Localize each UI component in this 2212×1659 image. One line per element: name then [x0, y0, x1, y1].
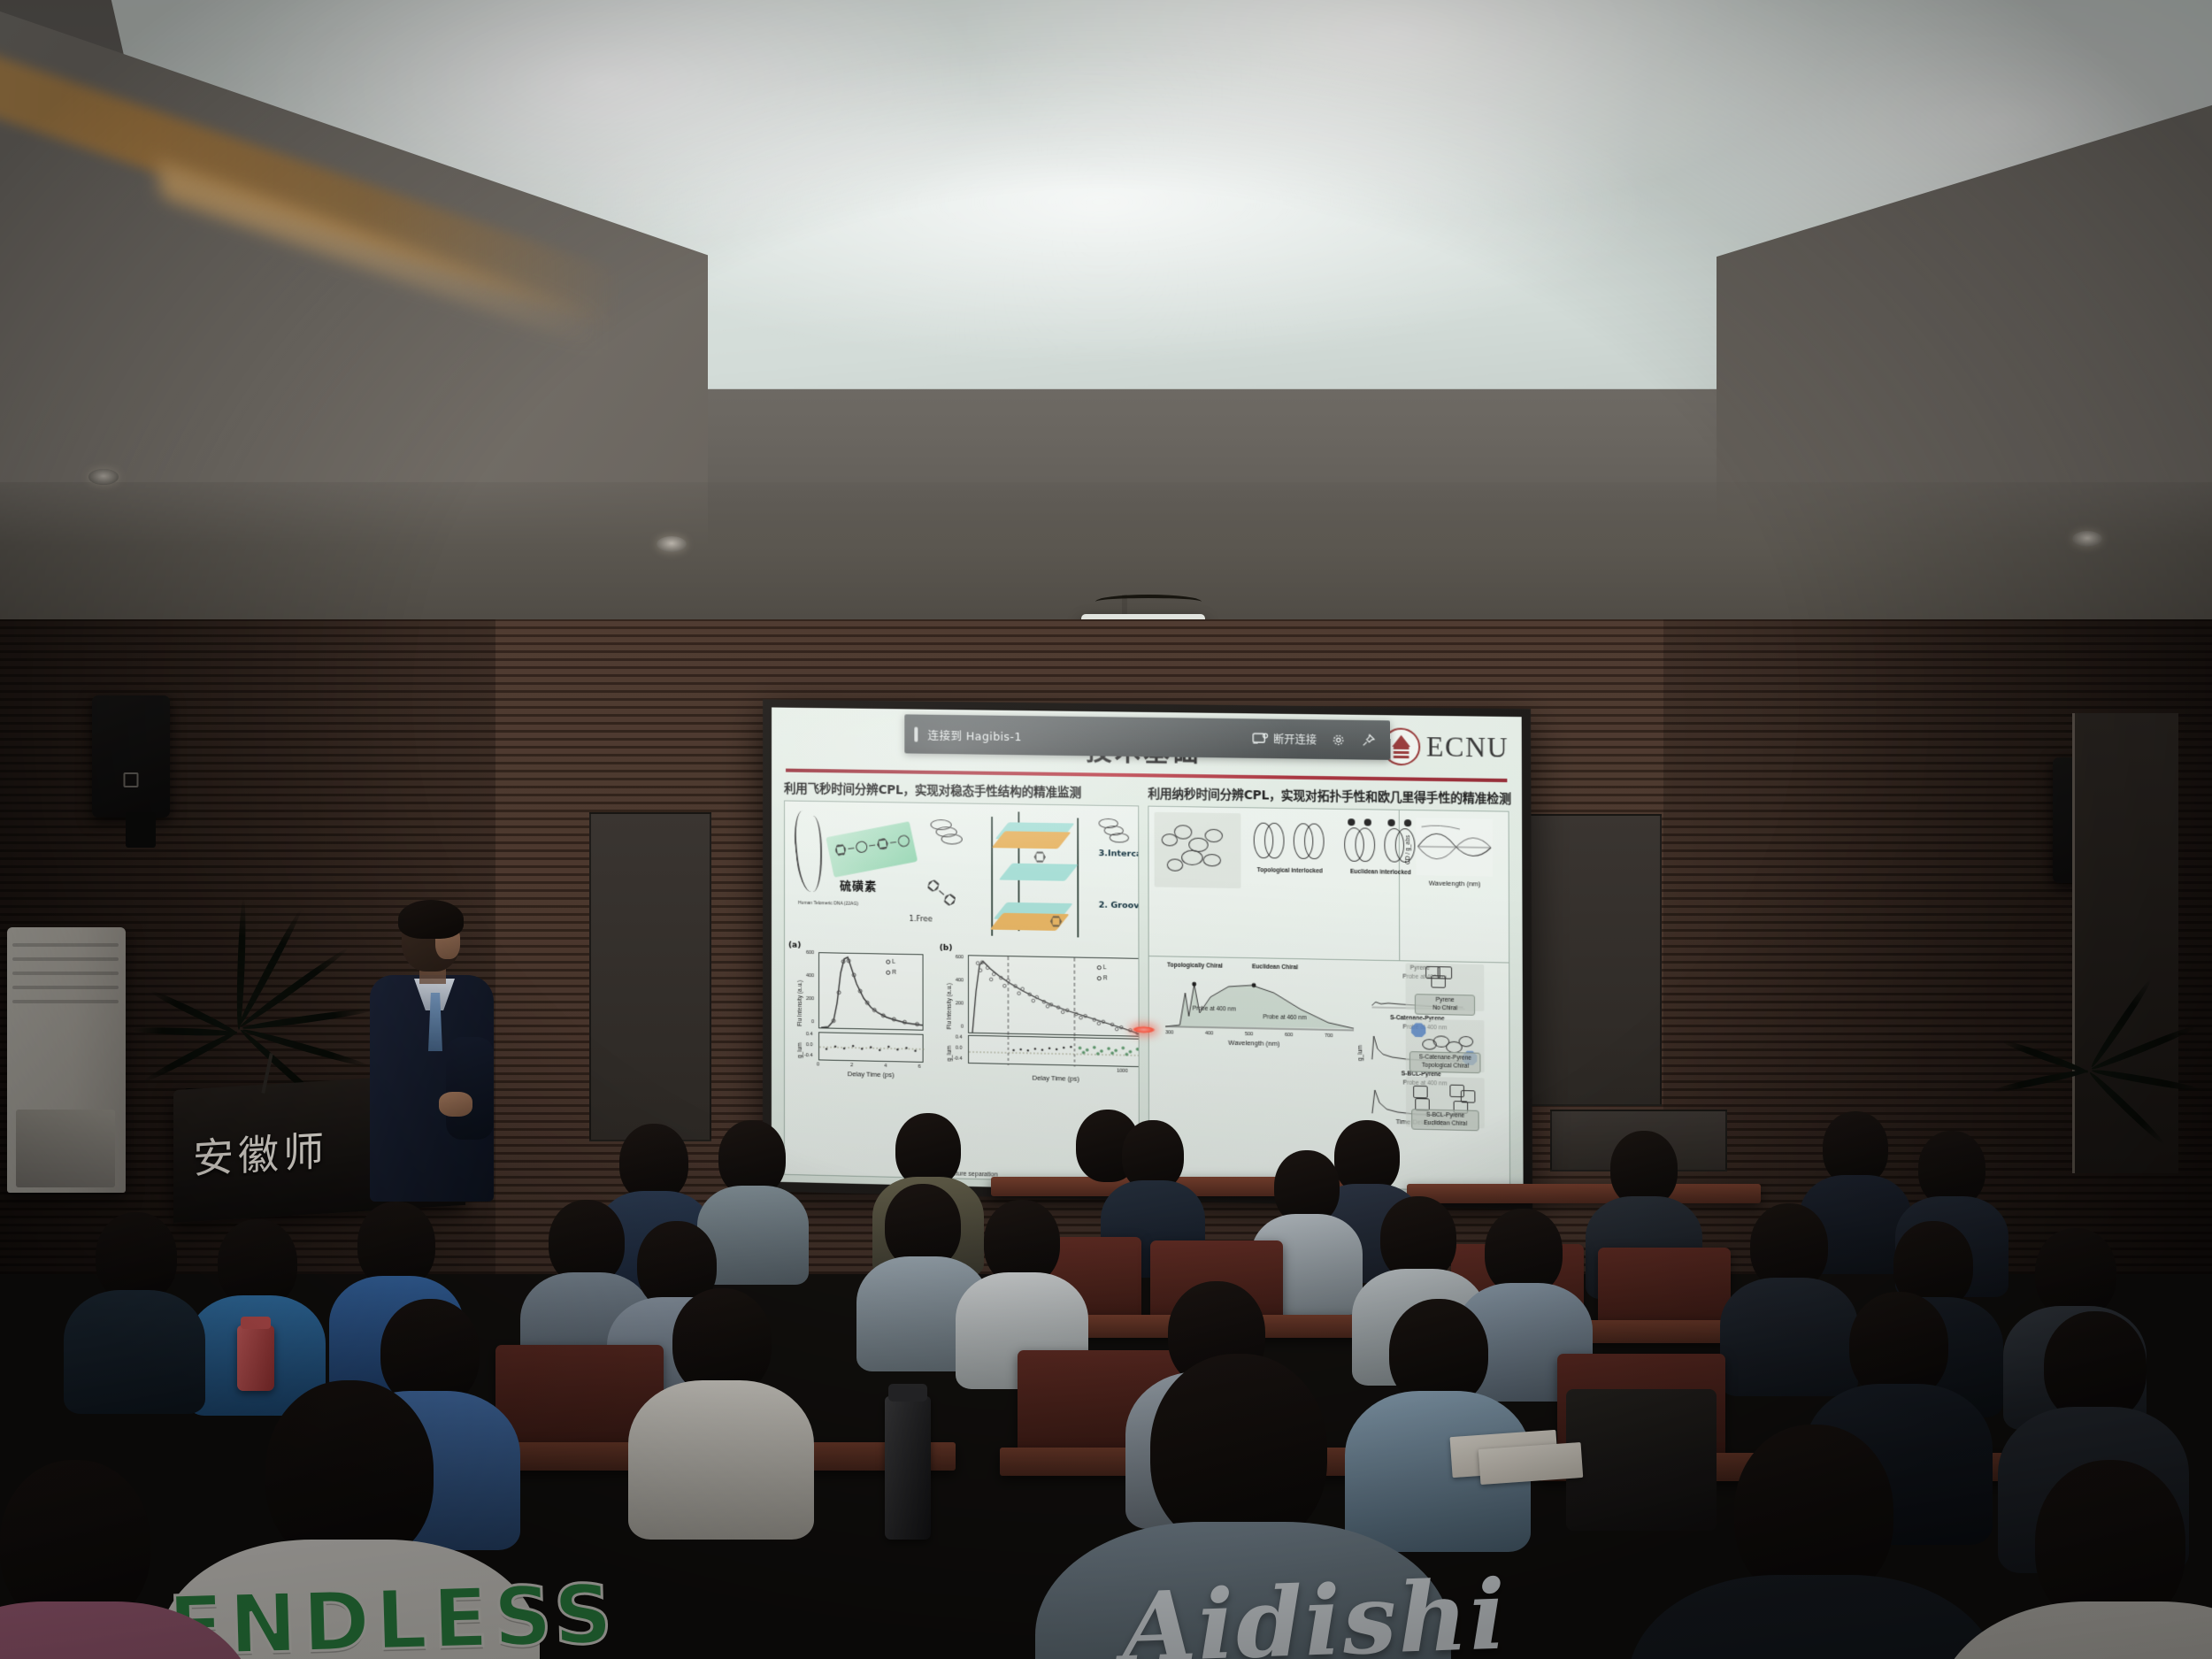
backpack	[1566, 1389, 1717, 1531]
emission-xtick: 700	[1325, 1033, 1333, 1039]
panel-b-ytick2: -0.4	[954, 1056, 963, 1062]
panel-b-ylabel: Flu Intensity (a.u.)	[947, 960, 953, 1030]
panel-a-xtick: 2	[850, 1063, 853, 1068]
emission-spectrum: Topologically Chiral Euclidean Chiral Pr…	[1155, 963, 1350, 1048]
downlight-icon	[2072, 531, 2102, 547]
panel-a: (a) Flu Intensity (a.u.) 600 400 200 0	[788, 943, 931, 1071]
panel-a-xtick: 0	[817, 1062, 819, 1067]
panel-b: (b) Flu Intensity (a.u.) 600 400 200 0	[940, 946, 1140, 1075]
emission-series-2: Euclidean Chiral	[1252, 964, 1298, 972]
panel-a-ytick2: 0.4	[806, 1032, 813, 1037]
cd-ylabel: CD / g_abs	[1405, 823, 1411, 864]
cd-spectrum-plot	[1417, 818, 1494, 876]
panel-a-plot	[818, 952, 924, 1031]
panel-a-ytick: 400	[806, 973, 814, 979]
presenter-hair	[398, 900, 464, 939]
coil-icon	[941, 833, 963, 844]
right-top-row: Topological interlocked	[1148, 807, 1509, 964]
panel-b-decay-curve	[969, 956, 1140, 1037]
panel-a-ytick: 600	[806, 950, 814, 956]
speaker-mount-left	[126, 812, 156, 848]
emission-annot-1: Probe at 400 nm	[1193, 1006, 1236, 1013]
panel-b-glum-plot	[968, 1035, 1140, 1067]
projector-cable	[1095, 595, 1202, 609]
panel-b-plot	[968, 955, 1140, 1036]
handout-paper	[1479, 1442, 1584, 1485]
emission-series-1: Topologically Chiral	[1167, 963, 1223, 970]
panel-a-xtick: 6	[918, 1064, 921, 1070]
water-bottle-red[interactable]	[237, 1325, 274, 1391]
right-column-heading: 利用纳秒时间分辨CPL，实现对拓扑手性和欧几里得手性的精准检测	[1148, 783, 1509, 806]
emission-xtick: 600	[1285, 1033, 1293, 1038]
panel-a-tag: (a)	[788, 941, 801, 950]
panel-a-legend-r: R	[886, 970, 896, 976]
wall-speaker-left	[92, 695, 170, 818]
emission-xlabel: Wavelength (nm)	[1191, 1038, 1317, 1048]
panel-a-xtick: 4	[884, 1064, 887, 1069]
downlight-icon	[657, 536, 687, 552]
desk-row	[1407, 1184, 1761, 1203]
panel-b-ytick: 0	[961, 1025, 964, 1030]
panel-a-ytick2: 0.0	[806, 1042, 813, 1048]
panel-a-glum-points	[819, 1033, 925, 1064]
panel-b-ytick: 400	[956, 978, 964, 983]
panel-b-glum-points	[969, 1036, 1140, 1068]
ligand-bound-icon	[1034, 851, 1046, 863]
bottle-cap-icon	[241, 1317, 271, 1329]
emission-annot-2: Probe at 460 nm	[1263, 1015, 1306, 1022]
free-ligand-icon	[926, 878, 958, 908]
acoustic-panel-right	[1529, 814, 1662, 1106]
coil-icon	[1110, 833, 1129, 842]
panel-b-legend-r: R	[1097, 975, 1108, 981]
decay-ylabel: g_lum	[1357, 1008, 1363, 1062]
panel-a-ytick: 200	[806, 996, 814, 1002]
cd-xlabel: Wavelength (nm)	[1413, 879, 1497, 888]
drag-grip-icon[interactable]	[914, 726, 918, 741]
settings-button[interactable]	[1330, 733, 1347, 746]
panel-a-legend-l: L	[886, 959, 895, 965]
ecnu-abbr: ECNU	[1426, 731, 1509, 764]
thermos-cap-icon	[888, 1384, 927, 1402]
state-1-label: 1.Free	[909, 915, 932, 924]
screen-cast-toolbar[interactable]: 连接到 Hagibis-1 断开连接	[904, 714, 1390, 760]
panel-a-curve	[819, 953, 925, 1032]
topological-label: Topological interlocked	[1248, 867, 1332, 875]
panel-b-ytick2: 0.0	[956, 1046, 963, 1051]
emission-xtick: 400	[1205, 1032, 1213, 1037]
blue-node-icon	[1411, 1023, 1426, 1038]
panel-b-ytick: 200	[956, 1001, 964, 1006]
cast-connection-label: 连接到 Hagibis-1	[927, 726, 1021, 743]
g-quadruplex-icon	[987, 810, 1092, 945]
emission-xtick: 300	[1165, 1031, 1173, 1036]
thermos-black[interactable]	[885, 1396, 931, 1540]
gear-icon	[1330, 733, 1347, 746]
panel-b-legend-l: L	[1097, 964, 1107, 971]
lecture-hall-photo: 安徽师 连接到 Hagibis-1	[0, 0, 2212, 1659]
disconnect-label: 断开连接	[1273, 731, 1317, 747]
panel-a-ytick2: -0.4	[804, 1053, 813, 1058]
downlight-icon	[88, 469, 119, 485]
disconnect-button[interactable]: 断开连接	[1252, 731, 1317, 747]
left-column-heading: 利用飞秒时间分辨CPL，实现对稳态手性结构的精准监测	[784, 779, 1139, 802]
cast-disconnect-icon	[1252, 732, 1268, 745]
sample-card-label: S-Catenane-Pyrene Topological Chiral	[1409, 1051, 1481, 1072]
state-2-label: 2. Groove bind	[1099, 901, 1140, 911]
panel-b-ylabel2: g_lum	[947, 1038, 953, 1061]
emission-xtick: 500	[1245, 1032, 1253, 1037]
dna-strand-icon	[803, 816, 822, 892]
pin-button[interactable]	[1360, 733, 1377, 747]
panel-a-glum-plot	[818, 1032, 924, 1063]
panel-a-ylabel: Flu Intensity (a.u.)	[797, 957, 803, 1026]
pin-icon	[1360, 733, 1377, 747]
state-3-label: 3.Intercalation	[1099, 849, 1140, 859]
panel-b-xtick: 1000	[1117, 1069, 1127, 1074]
panel-b-ytick2: 0.4	[956, 1034, 963, 1040]
dna-caption: Human Telomeric DNA (22AG)	[790, 901, 866, 908]
emission-curve	[1165, 973, 1356, 1033]
panel-a-ylabel2: g_lum	[797, 1035, 803, 1058]
panel-b-tag: (b)	[940, 944, 953, 953]
sample-card-label: Pyrene No Chiral	[1415, 995, 1475, 1016]
ligand-label: 硫磺素	[840, 876, 877, 894]
panel-b-ytick: 600	[956, 955, 964, 960]
ecnu-logo: ECNU	[1382, 727, 1509, 767]
interlocked-structures: Topological interlocked	[1148, 807, 1400, 961]
audience: ENDLESS Aidishi	[0, 1088, 2212, 1659]
panel-a-ytick: 0	[811, 1019, 814, 1025]
cd-spectrum-panel: CD / g_abs Wavelength (nm)	[1400, 810, 1509, 963]
cd-spectrum-curves	[1417, 818, 1494, 876]
